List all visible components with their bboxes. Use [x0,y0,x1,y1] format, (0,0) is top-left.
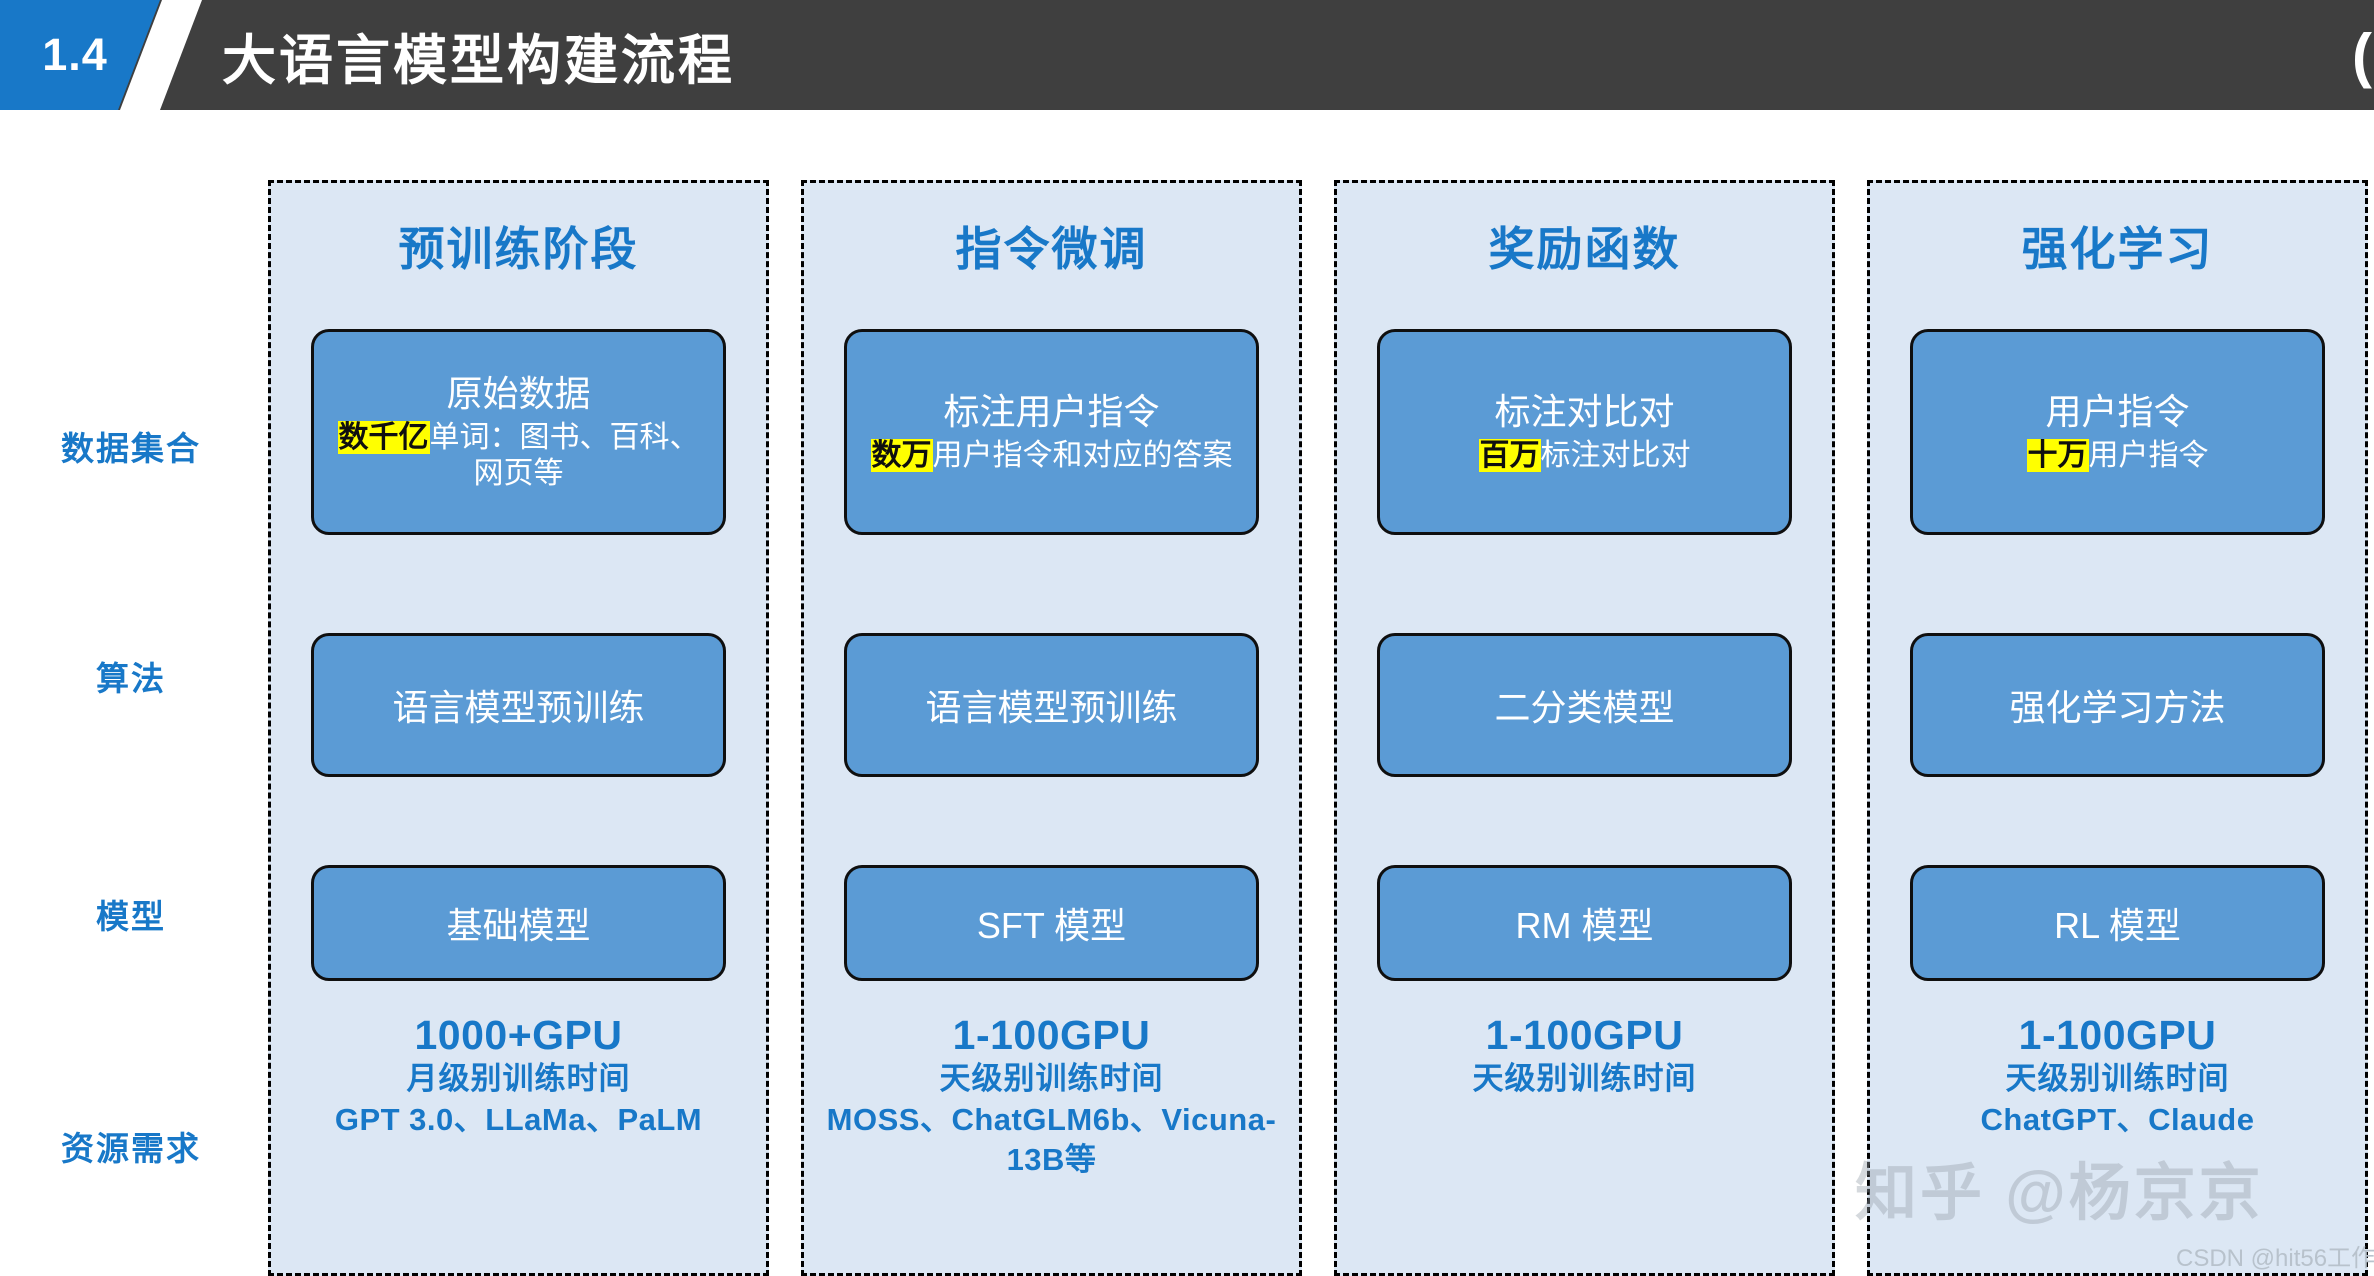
algorithm-label: 强化学习方法 [2009,679,2225,731]
stage-title: 预训练阶段 [271,213,766,279]
dataset-detail-rest: 用户指令 [2089,439,2209,472]
model-card: RL 模型 [1910,865,2325,981]
model-label: RL 模型 [2054,897,2181,949]
stage-title: 强化学习 [1870,213,2365,279]
row-label-resource: 资源需求 [0,1122,262,1170]
resource-gpu: 1-100GPU [1878,1011,2357,1059]
resource-block: 1-100GPU 天级别训练时间 [1345,1011,1824,1100]
dataset-highlight: 十万 [2027,439,2089,472]
dataset-detail: 十万用户指令 [2027,438,2209,473]
dataset-detail-rest: 单词：图书、百科、网页等 [430,421,700,489]
section-number: 1.4 [0,0,150,110]
resource-models: GPT 3.0、LLaMa、PaLM [279,1100,758,1140]
resource-models: ChatGPT、Claude [1878,1100,2357,1140]
dataset-highlight: 数千亿 [338,421,430,454]
resource-time: 天级别训练时间 [1345,1059,1824,1099]
dataset-heading: 标注用户指令 [943,391,1159,432]
dataset-card: 标注用户指令 数万用户指令和对应的答案 [844,329,1259,535]
dataset-detail-rest: 用户指令和对应的答案 [933,439,1233,472]
model-label: RM 模型 [1516,897,1654,949]
header-right-partial-glyph: ( [2352,0,2374,110]
algorithm-card: 语言模型预训练 [311,633,726,777]
dataset-detail: 数万用户指令和对应的答案 [871,438,1233,473]
algorithm-card: 强化学习方法 [1910,633,2325,777]
stage-column-reward-model: 奖励函数 标注对比对 百万标注对比对 二分类模型 RM 模型 1-100GPU … [1334,180,1835,1276]
slide-header: 1.4 大语言模型构建流程 ( [0,0,2374,110]
dataset-heading: 标注对比对 [1494,391,1674,432]
stage-column-reinforcement-learning: 强化学习 用户指令 十万用户指令 强化学习方法 RL 模型 1-100GPU 天… [1867,180,2368,1276]
model-card: 基础模型 [311,865,726,981]
model-card: RM 模型 [1377,865,1792,981]
resource-block: 1000+GPU 月级别训练时间 GPT 3.0、LLaMa、PaLM [279,1011,758,1140]
stage-title: 奖励函数 [1337,213,1832,279]
row-label-dataset: 数据集合 [0,422,262,470]
dataset-card: 标注对比对 百万标注对比对 [1377,329,1792,535]
dataset-highlight: 百万 [1479,439,1541,472]
stage-column-instruction-tuning: 指令微调 标注用户指令 数万用户指令和对应的答案 语言模型预训练 SFT 模型 … [801,180,1302,1276]
dataset-card: 原始数据 数千亿单词：图书、百科、网页等 [311,329,726,535]
algorithm-label: 语言模型预训练 [392,679,644,731]
algorithm-label: 语言模型预训练 [925,679,1177,731]
resource-models: MOSS、ChatGLM6b、Vicuna-13B等 [812,1100,1291,1181]
resource-time: 月级别训练时间 [279,1059,758,1099]
algorithm-label: 二分类模型 [1494,679,1674,731]
dataset-detail-rest: 标注对比对 [1541,439,1691,472]
resource-time: 天级别训练时间 [1878,1059,2357,1099]
row-label-model: 模型 [0,890,262,938]
stage-column-pretraining: 预训练阶段 原始数据 数千亿单词：图书、百科、网页等 语言模型预训练 基础模型 … [268,180,769,1276]
model-label: SFT 模型 [977,897,1126,949]
page-title: 大语言模型构建流程 [222,0,735,110]
model-card: SFT 模型 [844,865,1259,981]
pipeline-stage-columns: 预训练阶段 原始数据 数千亿单词：图书、百科、网页等 语言模型预训练 基础模型 … [268,180,2368,1276]
dataset-highlight: 数万 [871,439,933,472]
algorithm-card: 二分类模型 [1377,633,1792,777]
resource-block: 1-100GPU 天级别训练时间 ChatGPT、Claude [1878,1011,2357,1140]
resource-gpu: 1000+GPU [279,1011,758,1059]
algorithm-card: 语言模型预训练 [844,633,1259,777]
stage-title: 指令微调 [804,213,1299,279]
dataset-heading: 用户指令 [2045,391,2189,432]
dataset-card: 用户指令 十万用户指令 [1910,329,2325,535]
dataset-detail: 数千亿单词：图书、百科、网页等 [330,420,707,491]
resource-time: 天级别训练时间 [812,1059,1291,1099]
row-label-algorithm: 算法 [0,652,262,700]
model-label: 基础模型 [446,897,590,949]
resource-gpu: 1-100GPU [1345,1011,1824,1059]
resource-gpu: 1-100GPU [812,1011,1291,1059]
dataset-detail: 百万标注对比对 [1479,438,1691,473]
dataset-heading: 原始数据 [446,373,590,414]
resource-block: 1-100GPU 天级别训练时间 MOSS、ChatGLM6b、Vicuna-1… [812,1011,1291,1180]
